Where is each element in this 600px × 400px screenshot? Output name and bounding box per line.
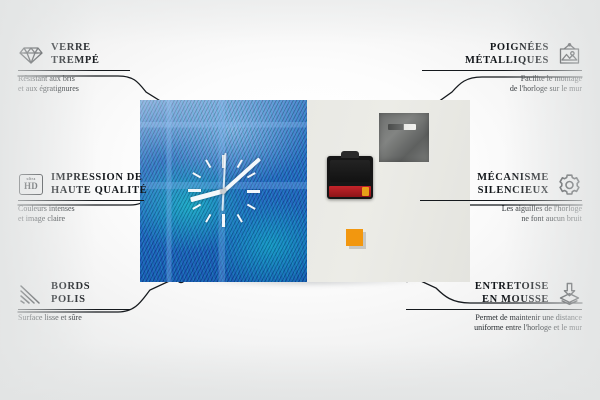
feature-subtitle-line2: et aux égratignures	[18, 84, 148, 94]
feature-divider	[18, 309, 130, 310]
hatched-edge-icon	[18, 282, 44, 306]
feature-title-line2: HAUTE QUALITÉ	[51, 185, 147, 198]
feature-verre-trempe[interactable]: VERRE TREMPÉ Résistant aux bris et aux é…	[18, 42, 148, 94]
clock-face	[140, 100, 307, 282]
foam-spacer	[346, 229, 363, 246]
feature-subtitle-line2: de l'horloge sur le mur	[422, 84, 582, 94]
feature-title-line1: POIGNÉES	[465, 42, 549, 55]
feature-subtitle-line1: Surface lisse et sûre	[18, 313, 148, 323]
feature-divider	[406, 309, 582, 310]
feature-subtitle-line1: Permet de maintenir une distance	[406, 313, 582, 323]
diamond-icon	[18, 43, 44, 67]
feature-subtitle-line1: Résistant aux bris	[18, 74, 148, 84]
clock-center-pin	[221, 189, 226, 194]
gear-icon	[556, 173, 582, 197]
mechanism-hook	[341, 151, 359, 158]
feature-title-line2: EN MOUSSE	[475, 294, 549, 307]
feature-title-line1: IMPRESSION DE	[51, 172, 147, 185]
hanging-picture-icon	[556, 43, 582, 67]
feature-entretoise-en-mousse[interactable]: ENTRETOISE EN MOUSSE Permet de maintenir…	[406, 281, 582, 333]
feature-subtitle-line2: uniforme entre l'horloge et le mur	[406, 323, 582, 333]
clock-mechanism-box	[327, 156, 373, 199]
feature-subtitle-line1: Facilite le montage	[422, 74, 582, 84]
metal-hanger-plate	[379, 113, 429, 162]
infographic-canvas: VERRE TREMPÉ Résistant aux bris et aux é…	[0, 0, 600, 400]
feature-divider	[422, 70, 582, 71]
feature-subtitle-line1: Couleurs intenses	[18, 204, 158, 214]
feature-divider	[18, 200, 144, 201]
feature-divider	[420, 200, 582, 201]
feature-mecanisme-silencieux[interactable]: MÉCANISME SILENCIEUX Les aiguilles de l'…	[420, 172, 582, 224]
feature-title-line2: MÉTALLIQUES	[465, 55, 549, 68]
feature-poignees-metalliques[interactable]: POIGNÉES MÉTALLIQUES Facilite le montage…	[422, 42, 582, 94]
ultra-hd-icon: ultra HD	[18, 173, 44, 197]
feature-title-line2: TREMPÉ	[51, 55, 100, 68]
hd-badge-bottom: HD	[24, 182, 38, 191]
feature-bords-polis[interactable]: BORDS POLIS Surface lisse et sûre	[18, 281, 148, 323]
feature-impression-haute-qualite[interactable]: ultra HD IMPRESSION DE HAUTE QUALITÉ Cou…	[18, 172, 158, 224]
feature-subtitle-line1: Les aiguilles de l'horloge	[420, 204, 582, 214]
feature-title-line2: SILENCIEUX	[477, 185, 549, 198]
feature-subtitle-line2: et image claire	[18, 214, 158, 224]
feature-title-line1: ENTRETOISE	[475, 281, 549, 294]
feature-title-line1: MÉCANISME	[477, 172, 549, 185]
feature-title-line2: POLIS	[51, 294, 90, 307]
battery	[329, 186, 371, 197]
feature-title-line1: BORDS	[51, 281, 90, 294]
feature-title-line1: VERRE	[51, 42, 100, 55]
hanger-keyhole-slot	[388, 124, 416, 130]
press-down-layers-icon	[556, 282, 582, 306]
feature-divider	[18, 70, 130, 71]
feature-subtitle-line2: ne font aucun bruit	[420, 214, 582, 224]
mechanism-panel	[330, 160, 370, 182]
